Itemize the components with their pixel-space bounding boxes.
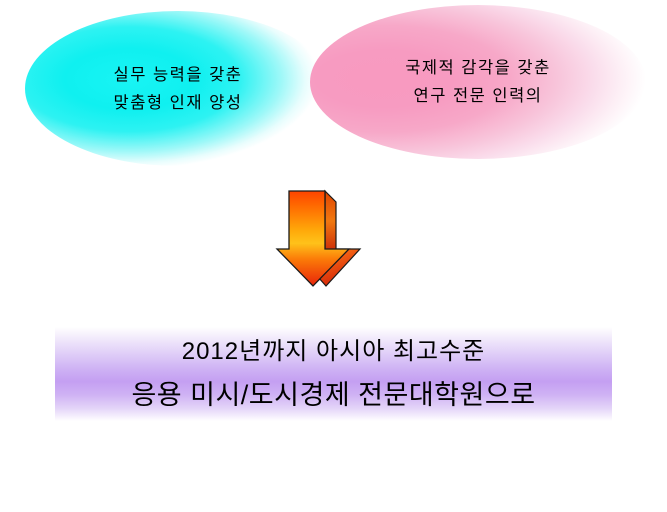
ellipse-right-pink[interactable]: 국제적 감각을 갖춘 연구 전문 인력의 (310, 5, 646, 159)
ellipse-left-line-1: 실무 능력을 갖춘 (114, 61, 243, 89)
bottom-banner[interactable]: 2012년까지 아시아 최고수준 응용 미시/도시경제 전문대학원으로 (55, 327, 612, 421)
ellipse-right-line-2: 연구 전문 인력의 (414, 82, 543, 110)
ellipse-left-cyan[interactable]: 실무 능력을 갖춘 맞춤형 인재 양성 (25, 11, 331, 166)
banner-line-1: 2012년까지 아시아 최고수준 (182, 331, 486, 373)
ellipse-left-line-2: 맞춤형 인재 양성 (114, 89, 243, 117)
down-arrow-3d-icon[interactable] (262, 186, 372, 294)
slide-canvas: 실무 능력을 갖춘 맞춤형 인재 양성 국제적 감각을 갖춘 연구 전문 인력의 (0, 0, 667, 512)
ellipse-right-line-1: 국제적 감각을 갖춘 (405, 54, 551, 82)
banner-line-2: 응용 미시/도시경제 전문대학원으로 (131, 373, 535, 417)
